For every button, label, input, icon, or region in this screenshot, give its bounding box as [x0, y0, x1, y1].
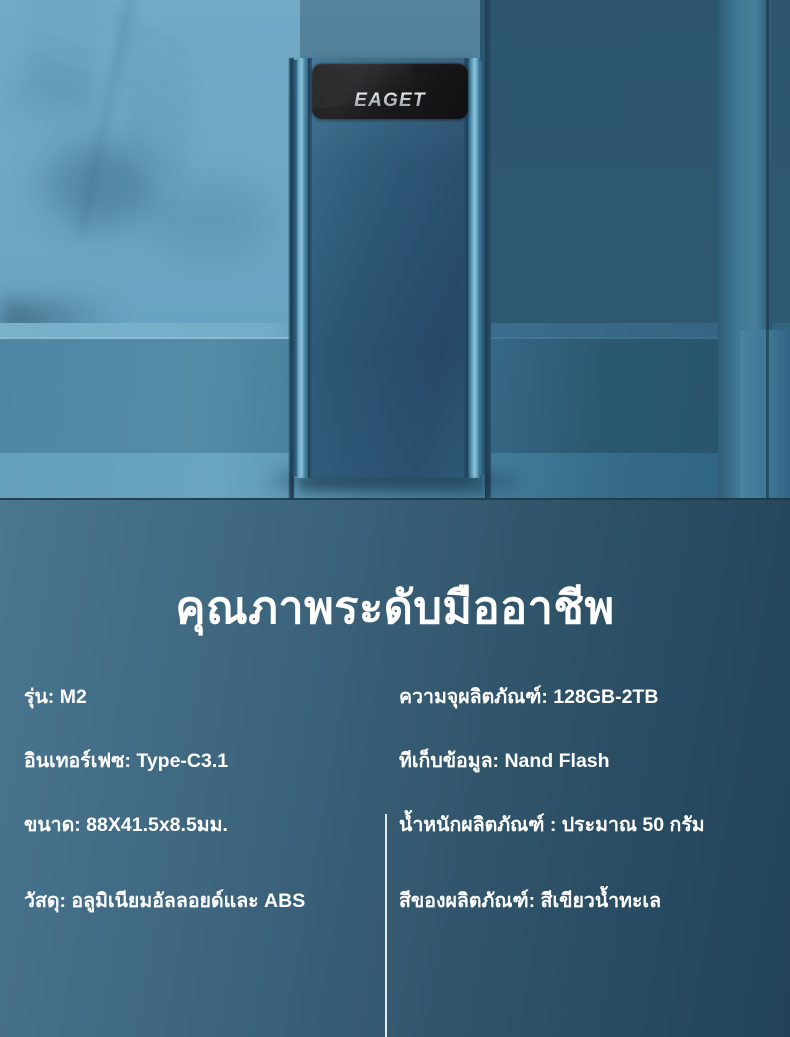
palm-shadow-blob [60, 150, 150, 220]
spec-row: ทีเก็บข้อมูล: Nand Flash [399, 745, 610, 776]
device-body-sheen [307, 58, 471, 478]
backdrop-pillar-edge [766, 0, 769, 500]
product-detail-page: EAGET คุณภาพระดับมืออาชีพ รุ่น: M2 อินเท… [0, 0, 790, 1037]
column-divider [385, 814, 387, 1037]
specifications-grid: รุ่น: M2 อินเทอร์เฟซ: Type-C3.1 ขนาด: 88… [0, 657, 790, 957]
spec-row: ขนาด: 88X41.5x8.5มม. [24, 809, 228, 840]
spec-row: รุ่น: M2 [24, 681, 87, 712]
specifications-section: คุณภาพระดับมืออาชีพ รุ่น: M2 อินเทอร์เฟซ… [0, 500, 790, 1037]
device-floor-reflection [300, 479, 482, 499]
device-top-glossy-panel: EAGET [312, 63, 468, 119]
spec-column-left: รุ่น: M2 อินเทอร์เฟซ: Type-C3.1 ขนาด: 88… [0, 657, 385, 957]
product-hero-photo: EAGET [0, 0, 790, 500]
spec-column-right: ความจุผลิตภัณฑ์: 128GB-2TB ทีเก็บข้อมูล:… [389, 657, 790, 957]
device-right-bevel-outer [480, 61, 487, 475]
device-left-bevel-groove [308, 58, 312, 478]
palm-shadow-blob [150, 180, 270, 260]
spec-row: อินเทอร์เฟซ: Type-C3.1 [24, 745, 228, 776]
spec-row: สีของผลิตภัณฑ์: สีเขียวน้ำทะเล [399, 885, 661, 916]
spec-row: วัสดุ: อลูมิเนียมอัลลอยด์และ ABS [24, 885, 305, 916]
palm-shadow-blob [10, 60, 100, 120]
spec-row: ความจุผลิตภัณฑ์: 128GB-2TB [399, 681, 658, 712]
eaget-brand-logo: EAGET [312, 90, 468, 112]
portable-ssd-device: EAGET [291, 58, 489, 480]
spec-row: น้ำหนักผลิตภัณฑ์ : ประมาณ 50 กรัม [399, 809, 705, 840]
backdrop-pillar-face [740, 330, 790, 500]
section-title: คุณภาพระดับมืออาชีพ [0, 584, 790, 631]
